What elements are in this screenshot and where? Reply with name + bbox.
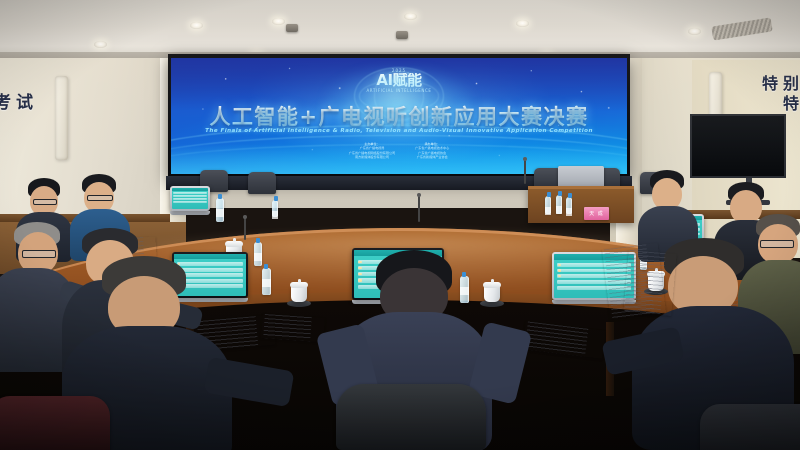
downlight-icon	[190, 22, 203, 29]
logo-subtitle: ARTIFICIAL INTELLIGENCE	[366, 89, 431, 93]
wall-ac-panel-icon	[55, 76, 68, 160]
water-bottle	[216, 198, 224, 222]
laptop-screen-row	[177, 273, 243, 277]
eyeglasses-icon	[760, 240, 794, 248]
laptop-lid	[170, 186, 210, 211]
downlight-icon	[516, 20, 529, 27]
downlight-icon	[272, 18, 285, 25]
held-document	[623, 250, 676, 316]
name-placard: 天 成	[584, 207, 609, 220]
organizer-line: 广东省新媒体产业协会	[415, 155, 449, 159]
tea-cup	[291, 286, 307, 302]
laptop-base	[170, 211, 210, 215]
water-bottle	[272, 200, 278, 217]
laptop-screen-row	[173, 198, 206, 200]
microphone-icon	[524, 160, 526, 184]
laptop-screen-row	[173, 195, 206, 197]
organizer-line: 南方新媒体股份有限公司	[349, 155, 395, 159]
microphone-icon	[418, 196, 420, 222]
laptop-screen-row	[177, 268, 243, 272]
laptop-screen-row	[177, 279, 243, 283]
participant-head	[730, 190, 762, 224]
event-title-chinese: 人工智能+广电视听创新应用大赛决赛	[171, 101, 627, 131]
microphone-icon	[244, 218, 246, 240]
laptop-screen-row	[173, 201, 206, 203]
side-monitor-screen	[692, 116, 784, 176]
water-bottle	[556, 195, 562, 214]
eyeglasses-icon	[22, 250, 56, 258]
laptop-screen-row	[177, 284, 243, 288]
water-bottle	[545, 196, 551, 214]
water-bottle	[254, 242, 262, 266]
organizer-column: 承办单位： 广东省广播电视技术中心 广东省广播电视协会 广东省新媒体产业协会	[415, 142, 449, 160]
podium	[528, 186, 634, 223]
water-bottle	[566, 197, 572, 214]
right-wall-signage-line2: 特	[762, 94, 800, 114]
ceiling-speaker-icon	[286, 24, 298, 32]
document-paper	[261, 314, 325, 342]
left-wall-signage: 考试	[0, 88, 38, 113]
laptop-screen-row	[177, 262, 243, 266]
laptop-screen-titlebar	[174, 254, 246, 259]
office-chair	[700, 404, 800, 450]
logo-wordmark: AI赋能	[366, 73, 431, 88]
downlight-icon	[688, 28, 701, 35]
organizer-credits: 主办单位： 广东省广播电视局 广东省广播电视网络股份有限公司 南方新媒体股份有限…	[349, 142, 449, 160]
right-wall-signage-line1: 特别	[762, 74, 800, 94]
led-video-wall: 2025 AI赋能 ARTIFICIAL INTELLIGENCE 人工智能+广…	[168, 54, 630, 178]
back-chair	[248, 172, 276, 194]
water-bottle	[460, 276, 469, 303]
event-title-english: The Finals of Artificial Intelligence & …	[171, 128, 627, 134]
conference-room-photo: 考试 特别 特 2025 AI赋能 ARTIFICIAL INTELLIGENC…	[0, 0, 800, 450]
laptop-base	[172, 298, 248, 302]
ceiling-speaker-icon	[396, 31, 408, 39]
downlight-icon	[404, 13, 417, 20]
eyeglasses-icon	[87, 195, 113, 201]
laptop-screen	[172, 188, 208, 209]
laptop	[170, 186, 210, 215]
office-chair-headrest	[336, 384, 486, 450]
laptop-screen-titlebar	[172, 188, 208, 191]
eyeglasses-icon	[33, 199, 57, 205]
laptop-screen-row	[173, 192, 206, 194]
side-monitor	[690, 114, 786, 178]
led-screen: 2025 AI赋能 ARTIFICIAL INTELLIGENCE 人工智能+广…	[171, 58, 627, 174]
tea-cup	[484, 286, 500, 302]
right-wall-signage: 特别 特	[762, 74, 800, 114]
downlight-icon	[94, 41, 107, 48]
organizer-column: 主办单位： 广东省广播电视局 广东省广播电视网络股份有限公司 南方新媒体股份有限…	[349, 142, 395, 160]
office-chair	[0, 396, 110, 450]
water-bottle	[262, 268, 271, 295]
event-logo: 2025 AI赋能 ARTIFICIAL INTELLIGENCE	[366, 69, 431, 93]
